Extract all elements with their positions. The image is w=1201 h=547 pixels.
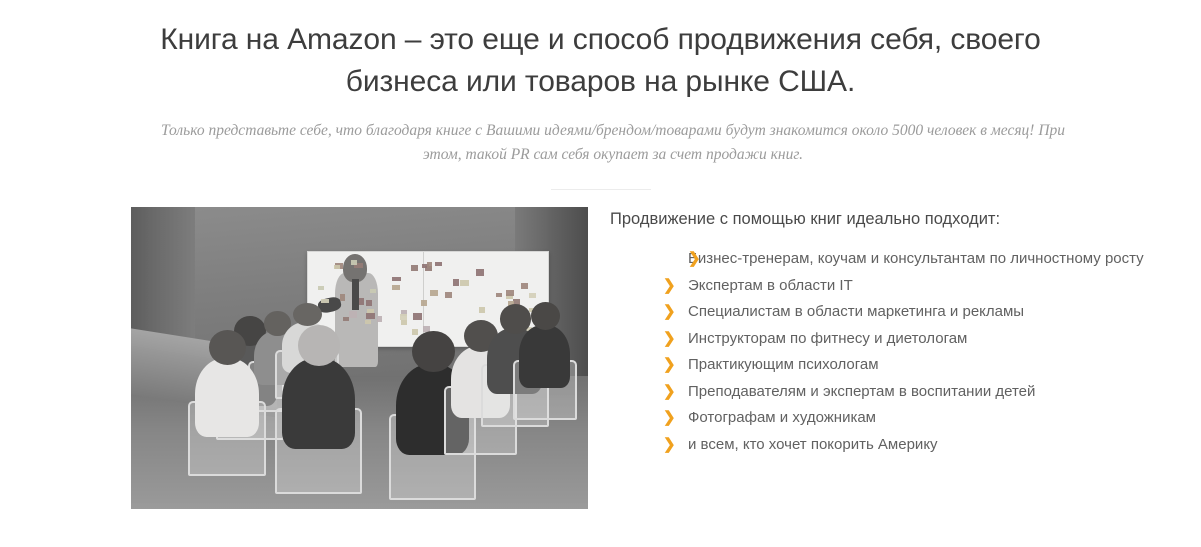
photo-sticky-note — [506, 290, 514, 296]
photo-sticky-note — [370, 289, 376, 293]
benefit-item-label: Бизнес-тренерам, коучам и консультантам … — [688, 250, 1144, 267]
content-area: Продвижение с помощью книг идеально подх… — [0, 207, 1201, 509]
benefit-item: ❯Экспертам в области IT — [663, 273, 1201, 300]
photo-attendee-head — [412, 331, 454, 372]
benefits-list: ❯Бизнес-тренерам, коучам и консультантам… — [610, 246, 1201, 458]
benefit-item: ❯Фотографам и художникам — [663, 405, 1201, 432]
photo-sticky-note — [377, 316, 382, 321]
page-subtitle: Только представьте себе, что благодаря к… — [151, 119, 1076, 167]
page-title-line-2: бизнеса или товаров на рынке США. — [346, 65, 855, 98]
benefit-item-label: Специалистам в области маркетинга и рекл… — [688, 303, 1024, 320]
photo-sticky-note — [365, 320, 370, 324]
photo-attendee-body — [519, 325, 569, 388]
benefit-item-label: Экспертам в области IT — [688, 277, 853, 294]
benefit-item: ❯Бизнес-тренерам, коучам и консультантам… — [663, 246, 1201, 273]
chevron-right-icon: ❯ — [663, 379, 679, 406]
benefit-item-label: Инструкторам по фитнесу и диетологам — [688, 330, 967, 347]
photo-sticky-note — [340, 294, 345, 300]
photo-sticky-note — [334, 265, 340, 269]
chevron-right-icon: ❯ — [663, 352, 679, 379]
photo-attendee-head — [209, 330, 246, 365]
photo-sticky-note — [349, 311, 357, 318]
photo-sticky-note — [479, 307, 485, 312]
benefit-item: ❯Практикующим психологам — [663, 352, 1201, 379]
seminar-photo — [131, 207, 588, 509]
promo-section: Книга на Amazon – это еще и способ продв… — [0, 0, 1201, 547]
benefits-column: Продвижение с помощью книг идеально подх… — [588, 207, 1201, 458]
photo-sticky-note — [366, 313, 375, 319]
benefit-item-label: Практикующим психологам — [688, 356, 879, 373]
photo-sticky-note — [321, 299, 329, 303]
divider-wrapper — [151, 189, 1051, 190]
photo-sticky-note — [401, 320, 407, 325]
photo-sticky-note — [392, 277, 400, 281]
benefit-item: ❯Специалистам в области маркетинга и рек… — [663, 299, 1201, 326]
photo-sticky-note — [366, 300, 372, 306]
photo-attendee-body — [195, 358, 259, 437]
photo-sticky-note — [400, 314, 407, 319]
photo-sticky-note — [453, 279, 458, 286]
benefit-item-label: Фотографам и художникам — [688, 409, 876, 426]
benefit-item: ❯Преподавателям и экспертам в воспитании… — [663, 379, 1201, 406]
photo-sticky-note — [351, 260, 356, 265]
header: Книга на Amazon – это еще и способ продв… — [151, 0, 1051, 190]
photo-sticky-note — [392, 285, 401, 290]
photo-sticky-note — [427, 262, 433, 268]
photo-sticky-note — [421, 300, 427, 305]
photo-sticky-note — [445, 292, 452, 299]
chevron-right-icon: ❯ — [663, 299, 679, 326]
photo-sticky-note — [476, 269, 484, 276]
photo-sticky-note — [430, 290, 439, 296]
benefits-title: Продвижение с помощью книг идеально подх… — [610, 208, 1201, 230]
photo-attendee-body — [282, 358, 355, 449]
chevron-right-icon: ❯ — [663, 246, 679, 273]
chevron-right-icon: ❯ — [663, 432, 679, 459]
photo-presenter-head — [343, 254, 367, 283]
chevron-right-icon: ❯ — [663, 326, 679, 353]
page-title-line-1: Книга на Amazon – это еще и способ продв… — [160, 23, 1040, 56]
photo-attendee-head — [500, 304, 532, 334]
photo-sticky-note — [411, 265, 418, 271]
benefit-item: ❯Инструкторам по фитнесу и диетологам — [663, 326, 1201, 353]
benefit-item: ❯и всем, кто хочет покорить Америку — [663, 432, 1201, 459]
chevron-right-icon: ❯ — [663, 405, 679, 432]
photo-sticky-note — [496, 293, 502, 298]
photo-column — [131, 207, 588, 509]
photo-sticky-note — [412, 329, 419, 335]
photo-attendee-head — [298, 325, 340, 366]
photo-sticky-note — [521, 283, 528, 288]
photo-sticky-note — [460, 280, 469, 285]
photo-sticky-note — [435, 262, 441, 267]
photo-presenter-lanyard — [352, 279, 358, 309]
chevron-right-icon: ❯ — [663, 273, 679, 300]
benefit-item-label: Преподавателям и экспертам в воспитании … — [688, 383, 1035, 400]
page-title: Книга на Amazon – это еще и способ продв… — [151, 19, 1051, 103]
photo-sticky-note — [529, 293, 536, 298]
photo-sticky-note — [359, 298, 364, 305]
section-divider — [551, 189, 651, 190]
photo-attendee-head — [531, 302, 560, 331]
benefit-item-label: и всем, кто хочет покорить Америку — [688, 436, 938, 453]
photo-sticky-note — [318, 286, 325, 290]
photo-sticky-note — [343, 317, 349, 321]
photo-sticky-note — [413, 313, 422, 319]
